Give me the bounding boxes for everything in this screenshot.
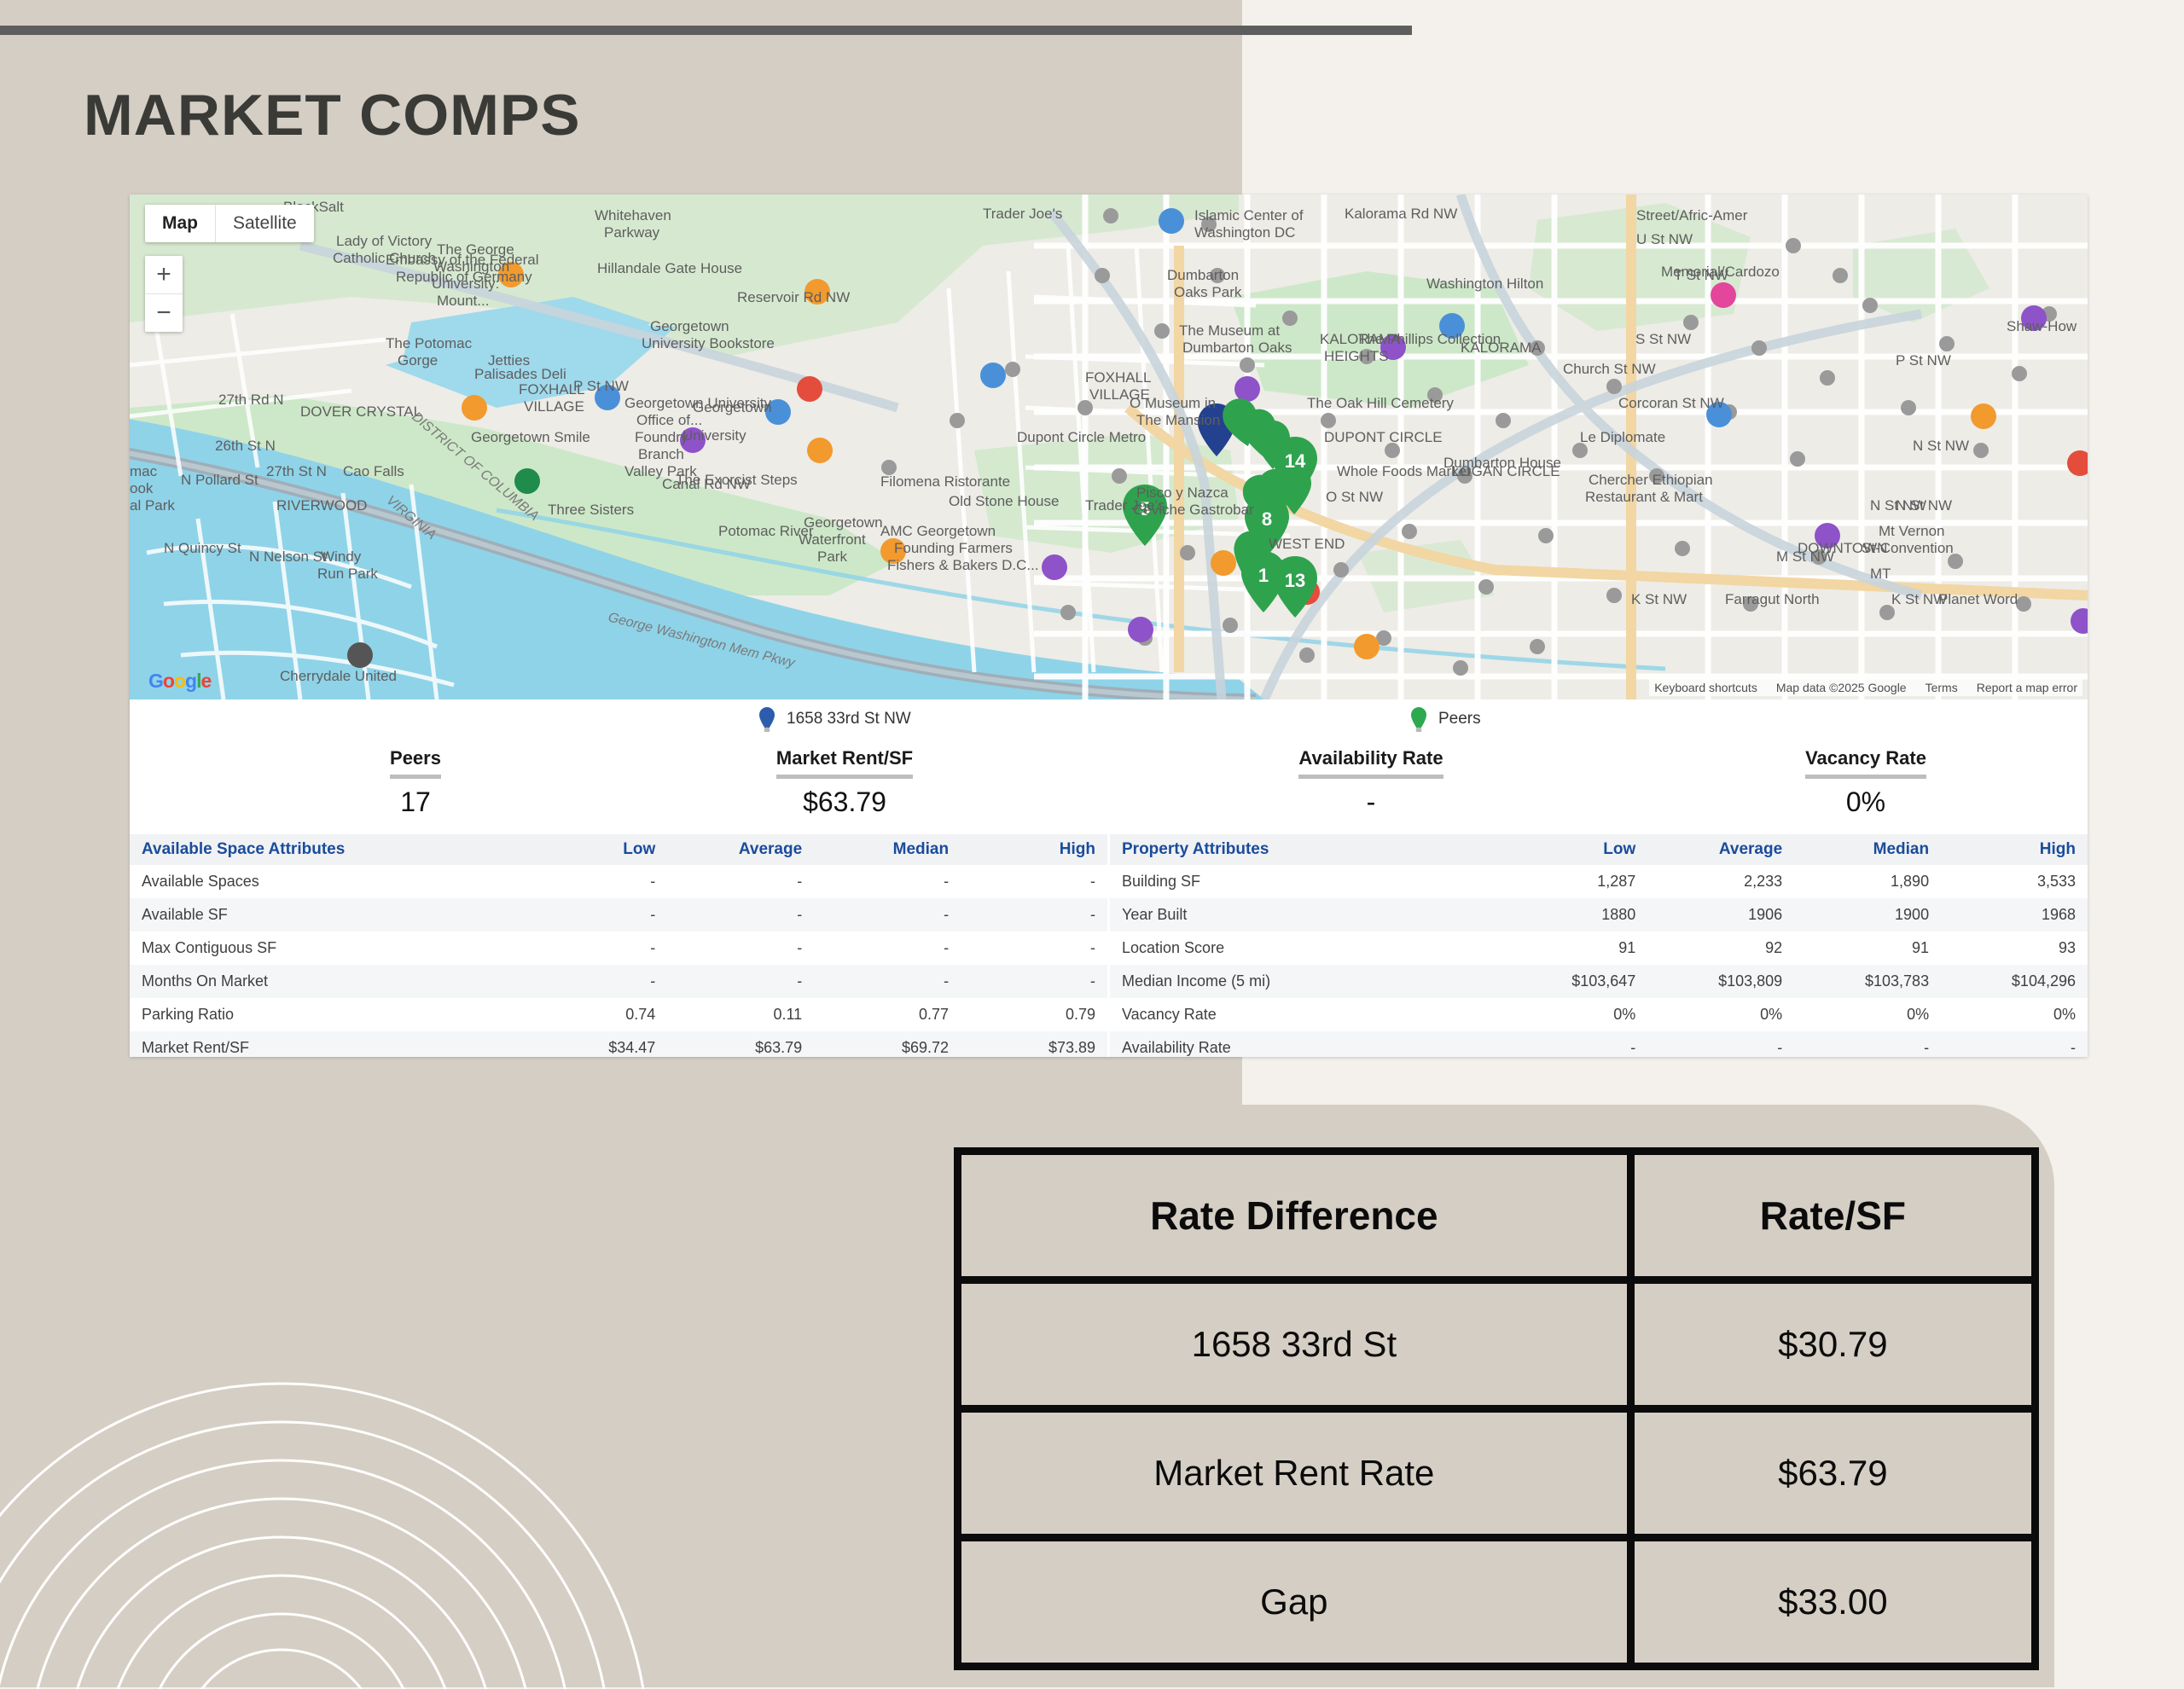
svg-text:Cherrydale United: Cherrydale United <box>280 668 397 684</box>
row-median: $69.72 <box>814 1031 961 1057</box>
table-row: Location Score 91 92 91 93 <box>1110 932 2088 965</box>
svg-text:Dupont Circle Metro: Dupont Circle Metro <box>1017 429 1146 445</box>
kpi-availability-rate-label: Availability Rate <box>1298 747 1443 779</box>
svg-text:DOWNTOWN: DOWNTOWN <box>1798 540 1887 556</box>
row-low: - <box>520 965 667 998</box>
google-logo-g1: G <box>148 670 163 692</box>
row-high: 0% <box>1941 998 2088 1031</box>
map-zoom-controls[interactable]: + − <box>145 256 183 332</box>
svg-text:K St NW: K St NW <box>1631 591 1687 607</box>
row-attr: Location Score <box>1110 932 1501 965</box>
svg-text:26th St N: 26th St N <box>215 438 276 454</box>
row-low: - <box>520 865 667 898</box>
row-average: 1906 <box>1647 898 1794 932</box>
row-low: - <box>1501 1031 1647 1057</box>
svg-text:WEST END: WEST END <box>1269 536 1345 552</box>
svg-text:N St NW: N St NW <box>1870 497 1926 514</box>
svg-text:Founding Farmers: Founding Farmers <box>894 540 1013 556</box>
svg-text:Shaw-How: Shaw-How <box>2007 318 2077 334</box>
row-attr: Market Rent/SF <box>130 1031 520 1057</box>
table-row: Months On Market - - - - <box>130 965 1107 998</box>
row-low: $34.47 <box>520 1031 667 1057</box>
row-median: - <box>1794 1031 1941 1057</box>
row-average: 2,233 <box>1647 865 1794 898</box>
blue-map-pin-icon <box>758 706 776 732</box>
google-logo-o1: o <box>163 670 174 692</box>
rate-table-row: Gap $33.00 <box>958 1538 2036 1667</box>
rate-table-header-row: Rate Difference Rate/SF <box>958 1152 2036 1280</box>
svg-text:Kalorama Rd NW: Kalorama Rd NW <box>1345 206 1457 222</box>
available-space-attributes-table: Available Space Attributes Low Average M… <box>130 834 1107 1057</box>
kpi-peers-value: 17 <box>347 786 484 818</box>
rate-row-value: $63.79 <box>1630 1409 2035 1538</box>
table-row: Available Spaces - - - - <box>130 865 1107 898</box>
svg-text:Le Diplomate: Le Diplomate <box>1580 429 1665 445</box>
row-high: $104,296 <box>1941 965 2088 998</box>
svg-text:mac: mac <box>130 463 158 479</box>
svg-text:VILLAGE: VILLAGE <box>524 398 584 415</box>
row-median: - <box>814 965 961 998</box>
svg-text:S St NW: S St NW <box>1635 331 1691 347</box>
svg-text:N Quincy St: N Quincy St <box>164 540 241 556</box>
svg-text:Restaurant & Mart: Restaurant & Mart <box>1585 489 1703 505</box>
kpi-availability-rate-value: - <box>1260 786 1482 818</box>
row-average: 0.11 <box>667 998 814 1031</box>
rate-table-header-difference: Rate Difference <box>958 1152 1631 1280</box>
table-row: Available SF - - - - <box>130 898 1107 932</box>
svg-text:Washington Hilton: Washington Hilton <box>1426 276 1543 292</box>
col-header-median: Median <box>1794 834 1941 865</box>
table-row: Building SF 1,287 2,233 1,890 3,533 <box>1110 865 2088 898</box>
svg-text:Georgetown: Georgetown <box>650 318 729 334</box>
market-comps-screenshot-card: 14 8 1 13 5 WhitehavenParkway Trader Joe… <box>130 194 2088 1057</box>
rate-table-row: 1658 33rd St $30.79 <box>958 1280 2036 1409</box>
svg-text:Dumbarton Oaks: Dumbarton Oaks <box>1182 340 1292 356</box>
report-map-error-link[interactable]: Report a map error <box>1977 681 2077 694</box>
rate-row-label: 1658 33rd St <box>958 1280 1631 1409</box>
svg-text:27th Rd N: 27th Rd N <box>218 392 284 408</box>
svg-text:Washington DC: Washington DC <box>1194 224 1295 241</box>
kpi-summary-row: Peers 17 Market Rent/SF $63.79 Availabil… <box>130 740 2088 834</box>
legend-peers-label: Peers <box>1438 710 1481 728</box>
svg-text:Lady of Victory: Lady of Victory <box>336 233 433 249</box>
svg-text:The Potomac: The Potomac <box>386 335 473 351</box>
map-attribution: Keyboard shortcuts Map data ©2025 Google… <box>1649 679 2082 696</box>
row-average: - <box>1647 1031 1794 1057</box>
table-header-row: Available Space Attributes Low Average M… <box>130 834 1107 865</box>
page-title: MARKET COMPS <box>84 82 581 148</box>
col-header-average: Average <box>667 834 814 865</box>
google-logo-o2: o <box>174 670 185 692</box>
row-high: 3,533 <box>1941 865 2088 898</box>
col-header-low: Low <box>520 834 667 865</box>
table-row: Parking Ratio 0.74 0.11 0.77 0.79 <box>130 998 1107 1031</box>
property-attributes-table: Property Attributes Low Average Median H… <box>1110 834 2088 1057</box>
svg-text:Islamic Center of: Islamic Center of <box>1194 207 1304 223</box>
row-high: $73.89 <box>961 1031 1107 1057</box>
row-average: - <box>667 932 814 965</box>
svg-text:Foundry: Foundry <box>635 429 688 445</box>
row-attr: Months On Market <box>130 965 520 998</box>
kpi-availability-rate: Availability Rate - <box>1260 747 1482 818</box>
svg-text:The Museum at: The Museum at <box>1179 322 1280 339</box>
rate-table-header-rate: Rate/SF <box>1630 1152 2035 1280</box>
green-map-pin-icon <box>1409 706 1428 732</box>
svg-text:The Phillips Collection: The Phillips Collection <box>1358 331 1501 347</box>
svg-text:8: 8 <box>1262 508 1272 530</box>
header-rule <box>0 26 1412 35</box>
row-high: - <box>961 932 1107 965</box>
col-header-average: Average <box>1647 834 1794 865</box>
svg-text:Gorge: Gorge <box>398 352 438 369</box>
row-high: - <box>961 965 1107 998</box>
terms-link[interactable]: Terms <box>1926 681 1958 694</box>
col-header-median: Median <box>814 834 961 865</box>
rate-row-value: $33.00 <box>1630 1538 2035 1667</box>
svg-text:Embassy of the Federal: Embassy of the Federal <box>386 252 539 268</box>
svg-text:O St NW: O St NW <box>1326 489 1383 505</box>
row-attr: Year Built <box>1110 898 1501 932</box>
table-row: Availability Rate - - - - <box>1110 1031 2088 1057</box>
svg-text:Ceviche Gastrobar: Ceviche Gastrobar <box>1133 502 1254 518</box>
row-high: - <box>961 865 1107 898</box>
rate-row-label: Gap <box>958 1538 1631 1667</box>
row-low: 1880 <box>1501 898 1647 932</box>
svg-text:Whitehaven: Whitehaven <box>595 207 671 223</box>
row-average: $103,809 <box>1647 965 1794 998</box>
row-median: 1,890 <box>1794 865 1941 898</box>
kpi-market-rent-label: Market Rent/SF <box>776 747 913 779</box>
svg-text:Three Sisters: Three Sisters <box>548 502 634 518</box>
svg-text:DOVER CRYSTAL: DOVER CRYSTAL <box>300 403 421 420</box>
svg-text:N St NW: N St NW <box>1913 438 1969 454</box>
zoom-out-button[interactable]: − <box>145 294 183 332</box>
row-average: 0% <box>1647 998 1794 1031</box>
svg-text:O Museum in: O Museum in <box>1130 395 1216 411</box>
svg-text:Old Stone House: Old Stone House <box>949 493 1059 509</box>
row-median: 91 <box>1794 932 1941 965</box>
row-attr: Vacancy Rate <box>1110 998 1501 1031</box>
svg-text:13: 13 <box>1285 570 1305 591</box>
svg-text:Canal Rd NW: Canal Rd NW <box>662 476 751 492</box>
svg-text:T St NW: T St NW <box>1674 267 1728 283</box>
svg-text:Park: Park <box>817 548 847 565</box>
col-header-low: Low <box>1501 834 1647 865</box>
google-logo-g2: g <box>185 670 196 692</box>
table-row: Max Contiguous SF - - - - <box>130 932 1107 965</box>
row-attr: Availability Rate <box>1110 1031 1501 1057</box>
svg-text:N Pollard St: N Pollard St <box>181 472 258 488</box>
legend-subject-label: 1658 33rd St NW <box>787 710 911 728</box>
svg-text:Church St NW: Church St NW <box>1563 361 1656 377</box>
row-median: - <box>814 898 961 932</box>
row-attr: Available SF <box>130 898 520 932</box>
svg-text:ook: ook <box>130 480 154 496</box>
kpi-peers: Peers 17 <box>347 747 484 818</box>
svg-text:Georgetown: Georgetown <box>804 514 883 531</box>
svg-text:Filomena Ristorante: Filomena Ristorante <box>880 473 1010 490</box>
svg-text:Run Park: Run Park <box>317 566 378 582</box>
svg-text:Parkway: Parkway <box>604 224 660 241</box>
svg-text:1: 1 <box>1258 565 1269 586</box>
svg-text:Republic of Germany: Republic of Germany <box>396 269 532 285</box>
svg-text:Reservoir Rd NW: Reservoir Rd NW <box>737 289 850 305</box>
svg-text:Windy: Windy <box>321 548 362 565</box>
zoom-in-button[interactable]: + <box>145 256 183 293</box>
row-high: - <box>1941 1031 2088 1057</box>
svg-text:HEIGHTS: HEIGHTS <box>1324 348 1389 364</box>
keyboard-shortcuts-link[interactable]: Keyboard shortcuts <box>1654 681 1757 694</box>
svg-text:al Park: al Park <box>130 497 175 514</box>
svg-text:27th St N: 27th St N <box>266 463 327 479</box>
row-median: 0% <box>1794 998 1941 1031</box>
svg-text:MT: MT <box>1870 566 1891 582</box>
svg-text:Hillandale Gate House: Hillandale Gate House <box>597 260 742 276</box>
svg-text:Whole Foods Market: Whole Foods Market <box>1337 463 1471 479</box>
table-row: Vacancy Rate 0% 0% 0% 0% <box>1110 998 2088 1031</box>
row-average: - <box>667 965 814 998</box>
map-type-switch[interactable]: Map Satellite <box>145 205 314 242</box>
row-average: - <box>667 865 814 898</box>
row-high: 0.79 <box>961 998 1107 1031</box>
col-header-attributes: Property Attributes <box>1110 834 1501 865</box>
kpi-vacancy-rate-label: Vacancy Rate <box>1805 747 1926 779</box>
row-low: - <box>520 898 667 932</box>
svg-text:Street/Afric-Amer: Street/Afric-Amer <box>1636 207 1748 223</box>
table-row: Market Rent/SF $34.47 $63.79 $69.72 $73.… <box>130 1031 1107 1057</box>
row-high: - <box>961 898 1107 932</box>
google-map[interactable]: 14 8 1 13 5 WhitehavenParkway Trader Joe… <box>130 194 2088 699</box>
svg-text:RIVERWOOD: RIVERWOOD <box>276 497 367 514</box>
row-low: 1,287 <box>1501 865 1647 898</box>
rate-row-label: Market Rent Rate <box>958 1409 1631 1538</box>
svg-text:14: 14 <box>1285 450 1306 472</box>
row-median: $103,783 <box>1794 965 1941 998</box>
row-median: 0.77 <box>814 998 961 1031</box>
google-logo: Google <box>148 670 211 693</box>
kpi-market-rent-value: $63.79 <box>742 786 947 818</box>
svg-text:FOXHALL: FOXHALL <box>1085 369 1151 386</box>
rate-row-value: $30.79 <box>1630 1280 2035 1409</box>
svg-text:LOGAN CIRCLE: LOGAN CIRCLE <box>1452 463 1560 479</box>
svg-text:Pisco y Nazca: Pisco y Nazca <box>1136 485 1228 501</box>
svg-text:Dumbarton: Dumbarton <box>1167 267 1239 283</box>
row-average: 92 <box>1647 932 1794 965</box>
row-median: 1900 <box>1794 898 1941 932</box>
svg-text:Georgetown: Georgetown <box>693 399 772 415</box>
svg-text:AMC Georgetown: AMC Georgetown <box>880 523 996 539</box>
legend-item-subject: 1658 33rd St NW <box>758 706 911 732</box>
svg-text:N Nelson St: N Nelson St <box>249 548 327 565</box>
table-row: Year Built 1880 1906 1900 1968 <box>1110 898 2088 932</box>
row-low: 0% <box>1501 998 1647 1031</box>
kpi-vacancy-rate: Vacancy Rate 0% <box>1772 747 1960 818</box>
svg-text:Mt Vernon: Mt Vernon <box>1879 523 1945 539</box>
svg-text:Branch: Branch <box>638 446 684 462</box>
row-average: - <box>667 898 814 932</box>
rate-difference-table: Rate Difference Rate/SF 1658 33rd St $30… <box>954 1147 2039 1670</box>
row-attr: Building SF <box>1110 865 1501 898</box>
svg-text:Georgetown Smile: Georgetown Smile <box>471 429 590 445</box>
svg-text:University: University <box>682 427 746 444</box>
kpi-vacancy-rate-value: 0% <box>1772 786 1960 818</box>
svg-text:Trader Joe's: Trader Joe's <box>983 206 1062 222</box>
row-low: 91 <box>1501 932 1647 965</box>
svg-text:P St NW: P St NW <box>1896 352 1951 369</box>
row-median: - <box>814 932 961 965</box>
row-low: $103,647 <box>1501 965 1647 998</box>
col-header-high: High <box>1941 834 2088 865</box>
row-low: - <box>520 932 667 965</box>
svg-text:Cao Falls: Cao Falls <box>343 463 404 479</box>
row-attr: Max Contiguous SF <box>130 932 520 965</box>
row-attr: Available Spaces <box>130 865 520 898</box>
table-row: Median Income (5 mi) $103,647 $103,809 $… <box>1110 965 2088 998</box>
row-high: 1968 <box>1941 898 2088 932</box>
svg-text:The Mansion: The Mansion <box>1136 412 1220 428</box>
row-attr: Parking Ratio <box>130 998 520 1031</box>
svg-text:University Bookstore: University Bookstore <box>642 335 775 351</box>
row-high: 93 <box>1941 932 2088 965</box>
legend-item-peers: Peers <box>1409 706 1481 732</box>
svg-text:Waterfront: Waterfront <box>799 531 866 548</box>
svg-text:Oaks Park: Oaks Park <box>1174 284 1242 300</box>
table-header-row: Property Attributes Low Average Median H… <box>1110 834 2088 865</box>
svg-text:Chercher Ethiopian: Chercher Ethiopian <box>1589 472 1713 488</box>
col-header-attributes: Available Space Attributes <box>130 834 520 865</box>
map-type-map-button[interactable]: Map <box>145 205 215 242</box>
row-average: $63.79 <box>667 1031 814 1057</box>
svg-text:Fishers & Bakers D.C...: Fishers & Bakers D.C... <box>887 557 1039 573</box>
svg-text:Corcoran St NW: Corcoran St NW <box>1618 395 1724 411</box>
rate-table-row: Market Rent Rate $63.79 <box>958 1409 2036 1538</box>
kpi-peers-label: Peers <box>390 747 441 779</box>
row-low: 0.74 <box>520 998 667 1031</box>
svg-text:DUPONT CIRCLE: DUPONT CIRCLE <box>1324 429 1443 445</box>
row-attr: Median Income (5 mi) <box>1110 965 1501 998</box>
map-data-copyright: Map data ©2025 Google <box>1776 681 1907 694</box>
svg-text:Farragut North: Farragut North <box>1725 591 1820 607</box>
svg-text:The Oak Hill Cemetery: The Oak Hill Cemetery <box>1307 395 1454 411</box>
svg-text:U St NW: U St NW <box>1636 231 1693 247</box>
col-header-high: High <box>961 834 1107 865</box>
svg-text:P St NW: P St NW <box>573 378 629 394</box>
svg-text:Planet Word: Planet Word <box>1938 591 2018 607</box>
map-type-satellite-button[interactable]: Satellite <box>216 205 314 242</box>
svg-text:Mount...: Mount... <box>437 293 489 309</box>
row-median: - <box>814 865 961 898</box>
google-logo-e: e <box>200 670 211 692</box>
kpi-market-rent: Market Rent/SF $63.79 <box>742 747 947 818</box>
svg-text:Palisades Deli: Palisades Deli <box>474 366 566 382</box>
